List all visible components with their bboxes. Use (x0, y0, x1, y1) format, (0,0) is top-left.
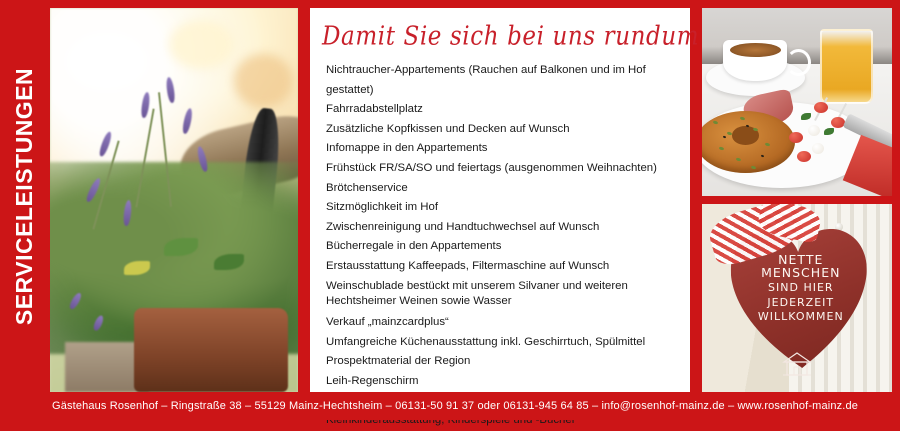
bokeh-highlight (234, 54, 294, 108)
cup-handle (786, 49, 811, 76)
service-item: Verkauf „mainzcardplus“ (326, 313, 682, 333)
service-item: Prospektmaterial der Region (326, 352, 682, 372)
service-item: Brötchenservice (326, 179, 682, 199)
service-item: Erstausstattung Kaffeepads, Filtermaschi… (326, 257, 682, 277)
service-item: Leih-Regenschirm (326, 372, 682, 392)
sign-line-3: JEDERZEIT (736, 297, 865, 309)
service-item: Sitzmöglichkeit im Hof (326, 198, 682, 218)
flyer-page: SERVICELEISTUNGEN Damit Sie sich bei uns… (0, 0, 900, 420)
services-panel: Damit Sie sich bei uns rundum wohlfühlen… (310, 8, 690, 392)
service-item: Zusätzliche Kopfkissen und Decken auf Wu… (326, 120, 682, 140)
service-item: Frühstück FR/SA/SO und feiertags (ausgen… (326, 159, 682, 179)
sign-line-2: SIND HIER (736, 282, 865, 294)
poppy-seed (745, 124, 748, 127)
cherry-tomato (814, 102, 828, 113)
footer-contact-text: Gästehaus Rosenhof – Ringstraße 38 – 551… (52, 400, 858, 412)
poppy-seed (723, 135, 726, 138)
wooden-heart-sign-photo: NETTE MENSCHEN SIND HIER JEDERZEIT WILLK… (702, 204, 892, 392)
mozzarella-ball (808, 125, 820, 136)
service-item: Infomappe in den Appartements (326, 139, 682, 159)
service-item: Nichtraucher-Appartements (Rauchen auf B… (326, 61, 682, 100)
house-drawing-icon (782, 351, 812, 377)
section-label-sidebar: SERVICELEISTUNGEN (0, 0, 50, 392)
poppy-seed (761, 154, 764, 157)
cherry-tomato (797, 151, 811, 162)
service-item: Zwischenreinigung und Handtuchwechsel au… (326, 218, 682, 238)
service-item: Weinschublade bestückt mit unserem Silva… (326, 279, 682, 310)
terracotta-planter (134, 308, 288, 392)
bokeh-highlight (169, 20, 233, 70)
service-item: Umfangreiche Küchenausstattung inkl. Ges… (326, 333, 682, 353)
breakfast-photo (702, 8, 892, 196)
lavender-herb-planter-photo (50, 8, 298, 392)
orange-juice-glass (820, 29, 873, 104)
heart-sign-text: NETTE MENSCHEN SIND HIER JEDERZEIT WILLK… (736, 253, 865, 323)
service-item: Bücherregale in den Appartements (326, 237, 682, 257)
sign-line-4: WILLKOMMEN (736, 311, 865, 323)
section-label-text: SERVICELEISTUNGEN (12, 67, 39, 324)
services-list: Nichtraucher-Appartements (Rauchen auf B… (326, 61, 682, 431)
footer-bar: Gästehaus Rosenhof – Ringstraße 38 – 551… (0, 392, 900, 420)
panel-headline: Damit Sie sich bei uns rundum wohlfühlen… (322, 22, 682, 51)
coffee-surface (730, 43, 781, 57)
service-item: Fahrradabstellplatz (326, 100, 682, 120)
